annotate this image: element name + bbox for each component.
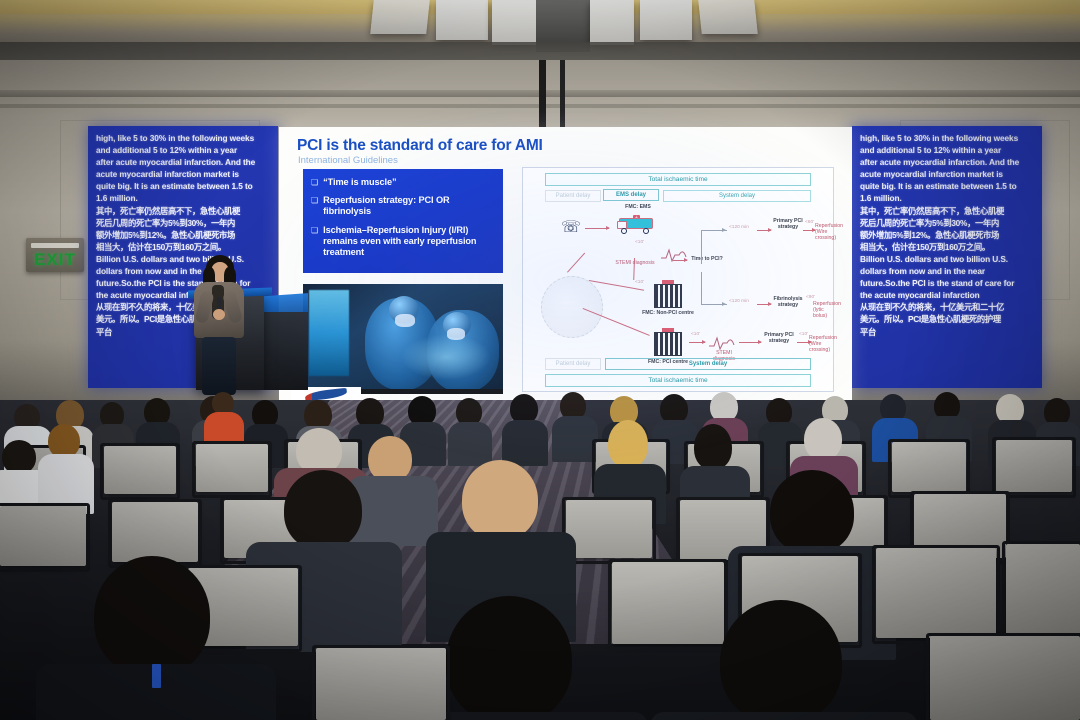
slide-title: PCI is the standard of care for AMI [297, 137, 543, 155]
audience-chair [1006, 544, 1080, 636]
caption-en-4: acute myocardial infarction market is [860, 168, 1035, 180]
arrow [739, 342, 761, 343]
caption-en-1: high, like 5 to 30% in the following wee… [96, 132, 271, 144]
caption-en-5: quite big. It is an estimate between 1.5… [96, 180, 271, 192]
caption-en-3: after acute myocardial infarction. And t… [96, 156, 271, 168]
band-patient-delay-bottom: Patient delay [545, 358, 601, 370]
caption-en2-2: dollars from now and in the near [860, 265, 1035, 277]
slide-subtitle: International Guidelines [298, 155, 398, 166]
checkbox-bullet-icon: ❏ [311, 177, 318, 188]
ceiling-coffer [698, 0, 758, 34]
stemi-pathway-diagram: Total ischaemic time Patient delay EMS d… [522, 167, 834, 392]
caption-en-6: 1.6 million. [96, 192, 271, 204]
node-label-reperfusion-wire-2: Reperfusion (Wire crossing) [809, 335, 831, 353]
audience-chair [612, 562, 724, 644]
caption-en-2: and additional 5 to 12% within a year [96, 144, 271, 156]
exit-sign-light [31, 243, 79, 248]
presenter-legs [202, 337, 236, 395]
phone-call-icon: ☏ [561, 220, 581, 238]
time-label: <60' [805, 220, 814, 225]
arrow [803, 230, 815, 231]
caption-en-5: quite big. It is an estimate between 1.5… [860, 180, 1035, 192]
ceiling-coffer [640, 0, 692, 40]
bullet-text: “Time is muscle” [323, 177, 396, 188]
bullet-text: Reperfusion strategy: PCI OR fibrinolysi… [323, 195, 494, 217]
caption-screen-right: high, like 5 to 30% in the following wee… [852, 126, 1042, 388]
caption-cn2-3: 平台 [860, 326, 1035, 338]
caption-en-4: acute myocardial infarction market is [96, 168, 271, 180]
band-system-delay-top: System delay [663, 190, 811, 202]
caption-cn-4: 相当大，估计在150万到160万之间。 [860, 241, 1035, 253]
band-total-ischaemic-time-top: Total ischaemic time [545, 173, 811, 186]
conference-room-photo: EXIT high, like 5 to 30% in the followin… [0, 0, 1080, 720]
ambulance-icon: + [615, 214, 655, 236]
node-label-fibrinolysis-strategy: Fibrinolysis strategy [771, 296, 805, 308]
xray-monitor [309, 290, 349, 376]
time-label: <90' [806, 295, 815, 300]
exit-sign: EXIT [26, 238, 84, 272]
time-label: <120 min [729, 299, 749, 304]
caption-cn-2: 死后几周的死亡率为5%到30%，一年内 [860, 217, 1035, 229]
arrow [713, 230, 725, 231]
node-label-time-to-pci: Time to PCI? [689, 256, 725, 262]
arrow [633, 258, 635, 280]
time-label: <10' [635, 280, 644, 285]
connector [701, 230, 702, 264]
main-projection-slide: PCI is the standard of care for AMI Inte… [279, 127, 852, 414]
arrow [689, 342, 705, 343]
bullet-item: ❏ Reperfusion strategy: PCI OR fibrinoly… [311, 195, 494, 217]
caption-en2-1: Billion U.S. dollars and two billion U.S… [860, 253, 1035, 265]
ceiling-coffer [492, 0, 536, 45]
bullet-item: ❏ Ischemia–Reperfusion Injury (I/RI) rem… [311, 225, 494, 259]
caption-en-6: 1.6 million. [860, 192, 1035, 204]
time-label: <10' [691, 332, 700, 337]
audience-chair [996, 440, 1072, 492]
caption-cn-2: 死后几周的死亡率为5%到30%，一年内 [96, 217, 271, 229]
arrow [757, 230, 771, 231]
caption-cn-3: 额外增加5%到12%。急性心肌梗死市场 [860, 229, 1035, 241]
connector [701, 272, 702, 304]
presenter [186, 255, 250, 395]
band-system-delay-bottom: System delay [605, 358, 811, 370]
lanyard-badge [152, 664, 161, 688]
surgical-mask [395, 314, 415, 327]
slide-operating-room-photo [303, 284, 503, 394]
audience-chair [316, 648, 446, 720]
arrow [567, 253, 585, 273]
ceiling-coffer [436, 0, 488, 40]
photo-glow [401, 334, 491, 380]
arrow [585, 228, 609, 229]
ecg-waveform-icon [709, 334, 735, 350]
audience-chair [566, 500, 652, 558]
node-label-stemi-diagnosis: STEMI diagnosis [611, 260, 659, 266]
presenter-hand [213, 309, 225, 320]
caption-cn-1: 其中，死亡率仍然居高不下，急性心肌梗 [860, 205, 1035, 217]
caption-en-3: after acute myocardial infarction. And t… [860, 156, 1035, 168]
node-label-fmc-ems: FMC: EMS [618, 204, 658, 210]
arrow [757, 304, 771, 305]
band-total-ischaemic-time-bottom: Total ischaemic time [545, 374, 811, 387]
caption-cn-4: 相当大，估计在150万到160万之间。 [96, 241, 271, 253]
checkbox-bullet-icon: ❏ [311, 195, 318, 217]
lectern-side-body [258, 312, 308, 390]
audience-chair [0, 506, 86, 566]
node-label-primary-pci-strategy: Primary PCI strategy [773, 218, 803, 230]
audience-chair [112, 502, 198, 562]
ceiling-coffer [590, 0, 634, 45]
node-label-reperfusion-wire: Reperfusion (Wire crossing) [815, 223, 833, 241]
caption-en-1: high, like 5 to 30% in the following wee… [860, 132, 1035, 144]
band-ems-delay: EMS delay [603, 189, 659, 201]
patient-body-icon [541, 276, 603, 338]
caption-en-2: and additional 5 to 12% within a year [860, 144, 1035, 156]
node-label-reperfusion-lytic: Reperfusion (lytic bolus) [813, 301, 833, 319]
bullet-text: Ischemia–Reperfusion Injury (I/RI) remai… [323, 225, 494, 259]
caption-cn2-2: 美元。所以。PCI是急性心肌梗死的护理 [860, 313, 1035, 325]
caption-en2-3: future.So.the PCI is the stand of care f… [860, 277, 1035, 289]
band-patient-delay-top: Patient delay [545, 190, 601, 202]
caption-cn-3: 额外增加5%到12%。急性心肌梗死市场 [96, 229, 271, 241]
node-label-primary-pci-strategy-2: Primary PCI strategy [763, 332, 795, 344]
audience-chair [892, 442, 966, 492]
checkbox-bullet-icon: ❏ [311, 225, 318, 259]
hospital-icon-pci [651, 328, 685, 358]
audience-chair [104, 446, 176, 494]
exit-sign-label: EXIT [34, 250, 76, 270]
arrow [713, 304, 725, 305]
arrow [673, 260, 687, 261]
slide-bullet-box: ❏ “Time is muscle” ❏ Reperfusion strateg… [303, 169, 503, 273]
audience-chair [930, 636, 1080, 720]
caption-cn-1: 其中，死亡率仍然居高不下，急性心肌梗 [96, 205, 271, 217]
audience-chair [876, 548, 996, 638]
hospital-icon-non-pci [651, 280, 685, 310]
time-label: <10' [635, 240, 644, 245]
time-label: <120 min [729, 225, 749, 230]
caption-en2-4: the acute myocardial infarction [860, 289, 1035, 301]
time-label: <10' [799, 332, 808, 337]
node-label-fmc-non-pci-centre: FMC: Non-PCI centre [635, 310, 701, 316]
bullet-item: ❏ “Time is muscle” [311, 177, 494, 188]
ceiling-coffer [370, 0, 430, 34]
audience-chair [196, 444, 268, 492]
caption-cn2-1: 从现在到不久的将来，十亿美元和二十亿 [860, 301, 1035, 313]
